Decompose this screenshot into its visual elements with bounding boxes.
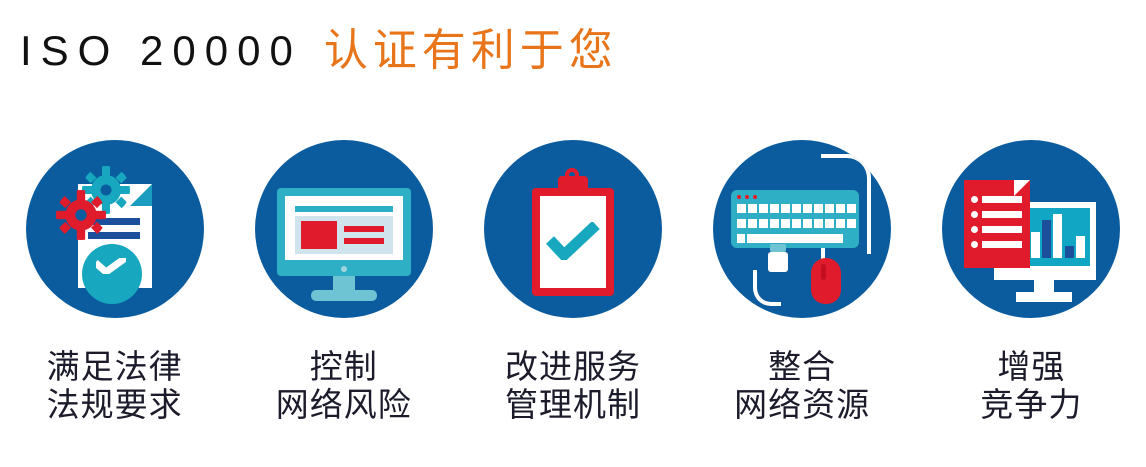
- benefit-caption: 满足法律 法规要求: [47, 348, 183, 424]
- checklist-line: [982, 196, 1022, 203]
- monitor-indicator-dot: [341, 266, 347, 272]
- benefit-card-row: 满足法律 法规要求 控制 网络风险: [0, 140, 1146, 424]
- benefit-card-service-management: 改进服务 管理机制: [458, 140, 687, 424]
- keyboard-key: [803, 204, 812, 213]
- monitor-base: [1016, 292, 1072, 302]
- monitor-base: [311, 290, 377, 301]
- check-icon: [546, 222, 600, 260]
- benefit-caption: 控制 网络风险: [276, 348, 412, 424]
- keyboard-key: [748, 219, 757, 228]
- benefit-caption: 整合 网络资源: [734, 348, 870, 424]
- keyboard-key: [814, 204, 823, 213]
- keyboard-key-row: [737, 204, 856, 213]
- keyboard-mouse-icon: [713, 140, 891, 318]
- page-title: ISO 20000 认证有利于您: [20, 14, 618, 78]
- usb-connector-body: [768, 252, 788, 272]
- checklist-line: [982, 211, 1022, 218]
- mouse-body: [811, 258, 841, 304]
- keyboard-modifier-key: [737, 234, 745, 243]
- benefit-caption-line-2: 网络资源: [734, 386, 870, 424]
- monitor-dashboard-icon: [255, 140, 433, 318]
- keyboard-key: [770, 219, 779, 228]
- iso-20000-benefits-infographic: ISO 20000 认证有利于您: [0, 0, 1146, 467]
- keyboard-key: [737, 219, 746, 228]
- keyboard-key: [748, 204, 757, 213]
- keyboard-key-row: [737, 219, 856, 228]
- chart-bar: [1053, 214, 1062, 258]
- mouse-scroll-button: [821, 264, 826, 280]
- benefit-card-network-resources: 整合 网络资源: [688, 140, 917, 424]
- checklist-line: [982, 241, 1022, 248]
- benefit-caption-line-1: 满足法律: [47, 348, 183, 386]
- benefit-caption: 改进服务 管理机制: [505, 348, 641, 424]
- benefit-caption-line-1: 改进服务: [505, 348, 641, 386]
- keyboard-key: [847, 219, 856, 228]
- keyboard-key: [781, 219, 790, 228]
- benefit-caption-line-2: 竞争力: [980, 386, 1082, 424]
- keyboard-key: [847, 204, 856, 213]
- keyboard-key: [825, 219, 834, 228]
- chart-bar: [1076, 236, 1085, 258]
- clipboard-check-icon: [484, 140, 662, 318]
- checklist-line: [982, 226, 1022, 233]
- benefit-caption-line-2: 网络风险: [276, 386, 412, 424]
- screen-red-line: [344, 238, 384, 244]
- benefit-caption-line-2: 法规要求: [47, 386, 183, 424]
- benefit-caption: 增强 竞争力: [980, 348, 1082, 424]
- keyboard-key: [836, 204, 845, 213]
- screen-red-block: [301, 221, 337, 249]
- check-icon: [96, 258, 126, 274]
- check-badge: [82, 244, 142, 304]
- page-title-standard: ISO 20000: [20, 27, 302, 75]
- keyboard-key: [814, 219, 823, 228]
- red-gear-icon: [56, 190, 106, 240]
- document-fold: [1014, 180, 1030, 196]
- screen-red-line: [344, 226, 384, 232]
- document-gears-check-icon: [26, 140, 204, 318]
- keyboard-spacebar: [747, 234, 843, 243]
- page-title-tagline: 认证有利于您: [324, 14, 618, 78]
- keyboard-key: [792, 204, 801, 213]
- keyboard-key: [825, 204, 834, 213]
- benefit-caption-line-1: 控制: [276, 348, 412, 386]
- keyboard-key: [836, 219, 845, 228]
- benefit-card-competitiveness: 增强 竞争力: [917, 140, 1146, 424]
- benefit-caption-line-2: 管理机制: [505, 386, 641, 424]
- chart-bar: [1065, 246, 1074, 258]
- benefit-card-network-risk: 控制 网络风险: [229, 140, 458, 424]
- usb-connector-tip: [770, 244, 786, 252]
- screen-header-bar: [295, 206, 393, 212]
- chart-bar: [1042, 220, 1051, 258]
- benefit-caption-line-1: 增强: [980, 348, 1082, 386]
- benefit-caption-line-1: 整合: [734, 348, 870, 386]
- keyboard-key: [737, 204, 746, 213]
- benefit-card-legal-compliance: 满足法律 法规要求: [0, 140, 229, 424]
- keyboard-key: [792, 219, 801, 228]
- keyboard-key: [770, 204, 779, 213]
- report-monitor-chart-icon: [942, 140, 1120, 318]
- keyboard-key: [759, 204, 768, 213]
- keyboard-key: [781, 204, 790, 213]
- usb-cord: [753, 270, 781, 306]
- keyboard-key: [759, 219, 768, 228]
- chart-bar: [1031, 232, 1040, 258]
- keyboard-key: [803, 219, 812, 228]
